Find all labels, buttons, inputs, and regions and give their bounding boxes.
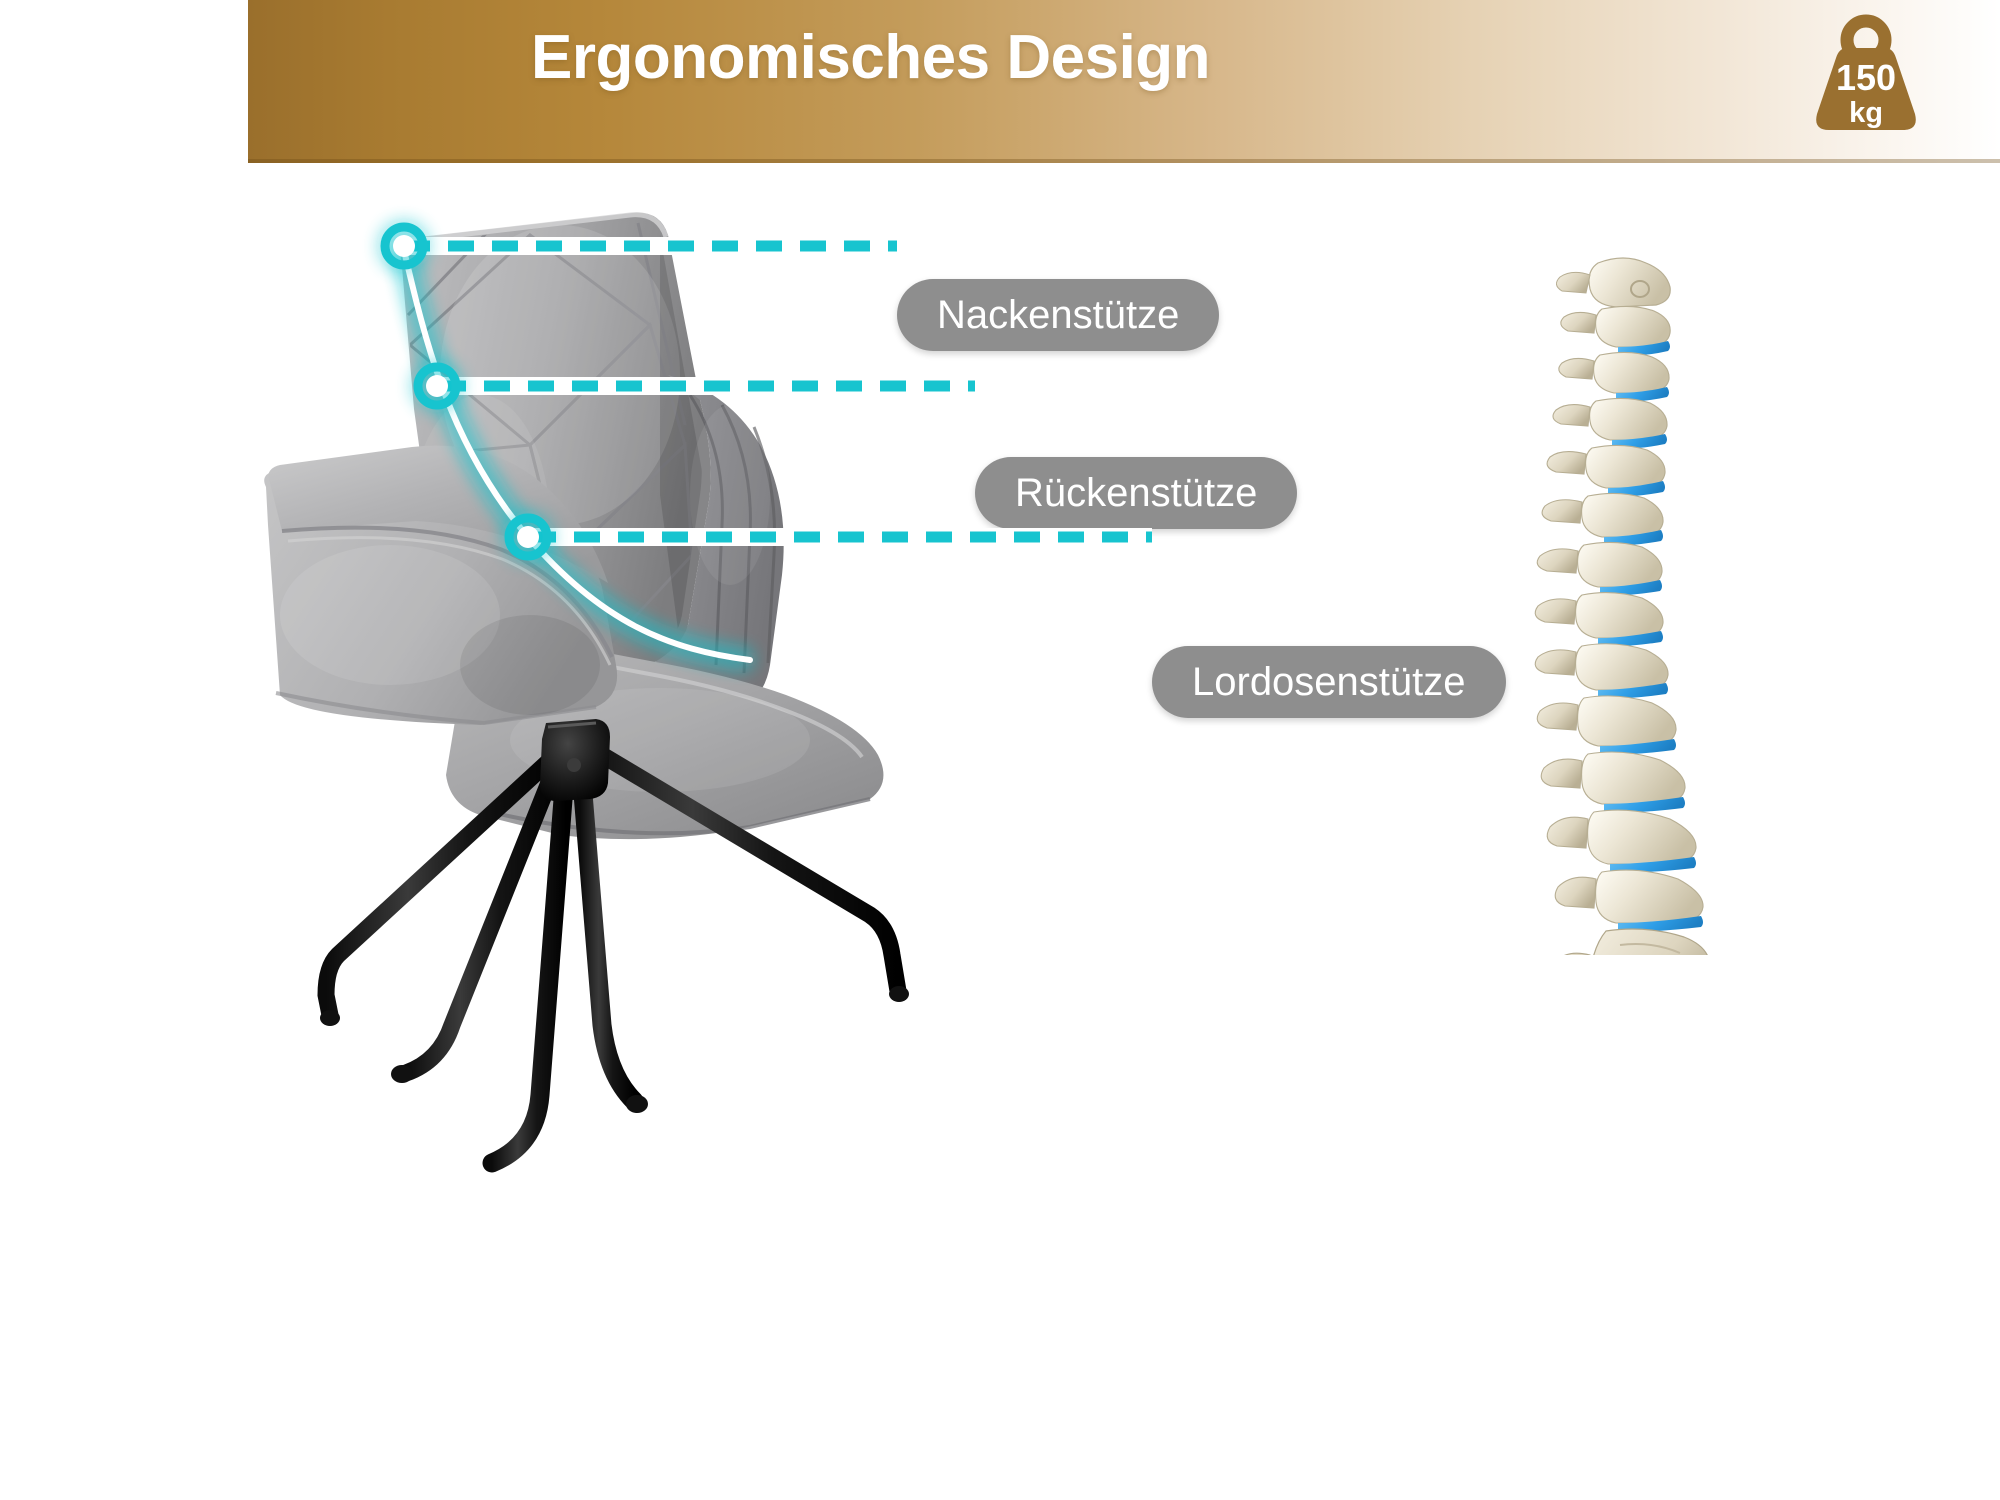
callout-label: Lordosenstütze [1192,660,1466,705]
callout-pill-back-support[interactable]: Rückenstütze [975,457,1297,529]
callout-label: Rückenstütze [1015,471,1257,516]
vertebra [1537,696,1676,755]
chair-illustration [230,195,1160,1405]
spine-illustration [1520,255,1735,955]
kettlebell-weight-icon: 150 kg [1811,14,1921,134]
vertebra [1537,542,1662,595]
callout-pill-lumbar-support[interactable]: Lordosenstütze [1152,646,1506,718]
weight-value: 150 [1836,57,1896,98]
page-title: Ergonomisches Design [531,22,1210,93]
chair-leg-rear-left [326,751,560,1015]
vertebra [1547,810,1696,872]
weight-unit: kg [1849,97,1883,129]
vertebra-atlas [1556,258,1670,307]
vertebra [1547,445,1665,496]
vertebra [1553,398,1667,448]
sacrum-coccyx [1551,929,1710,955]
vertebra [1561,306,1670,355]
callout-label: Nackenstütze [937,293,1179,338]
vertebra [1559,352,1669,401]
header-banner: Ergonomisches Design 150 kg [248,0,2000,163]
vertebra-stack [1535,258,1710,955]
callout-pill-neck-support[interactable]: Nackenstütze [897,279,1219,351]
vertebra [1535,593,1663,647]
vertebra [1555,870,1703,931]
vertebra [1542,493,1663,545]
vertebra [1535,644,1668,699]
vertebra [1541,752,1685,813]
weight-capacity-badge: 150 kg [1811,14,1921,134]
chair-base-hub [540,719,610,801]
